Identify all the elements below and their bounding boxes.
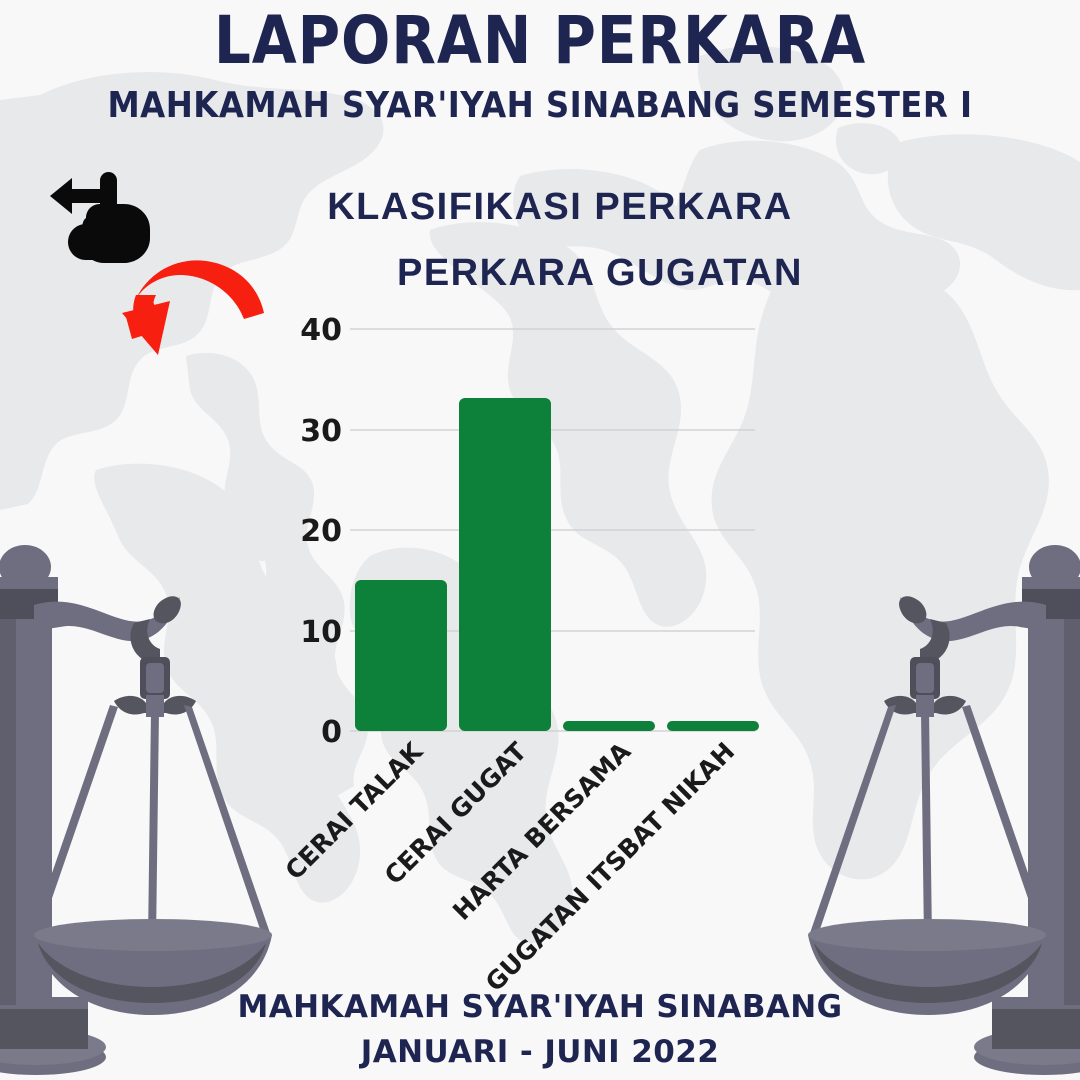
red-curved-arrow-icon <box>118 255 278 365</box>
page-title: LAPORAN PERKARA <box>65 8 1015 74</box>
poster-header: LAPORAN PERKARA MAHKAMAH SYAR'IYAH SINAB… <box>0 0 1080 124</box>
chart-gridlines <box>350 329 755 731</box>
infographic-poster: LAPORAN PERKARA MAHKAMAH SYAR'IYAH SINAB… <box>0 0 1080 1080</box>
x-tick-label: CERAI GUGAT <box>379 737 532 890</box>
x-tick-label: HARTA BERSAMA <box>447 736 637 926</box>
y-tick-label: 30 <box>300 414 342 449</box>
chart-y-axis: 40 30 20 10 0 <box>300 313 342 750</box>
y-tick-label: 40 <box>300 313 342 348</box>
poster-footer: MAHKAMAH SYAR'IYAH SINABANG JANUARI - JU… <box>0 992 1080 1068</box>
bar-gugatan-itsbat-nikah <box>667 721 759 731</box>
bar-harta-bersama <box>563 721 655 731</box>
y-tick-label: 10 <box>300 615 342 650</box>
bar-cerai-talak <box>355 580 447 731</box>
swipe-left-hand-icon <box>42 166 162 266</box>
section-heading-classification: KLASIFIKASI PERKARA <box>0 188 1080 226</box>
chart-x-axis: CERAI TALAK CERAI GUGAT HARTA BERSAMA GU… <box>280 736 741 998</box>
footer-institution: MAHKAMAH SYAR'IYAH SINABANG <box>0 992 1080 1023</box>
y-tick-label: 0 <box>321 715 342 750</box>
y-tick-label: 20 <box>300 514 342 549</box>
footer-period: JANUARI - JUNI 2022 <box>0 1037 1080 1068</box>
page-subtitle: MAHKAMAH SYAR'IYAH SINABANG SEMESTER I <box>54 88 1026 124</box>
x-tick-label: GUGATAN ITSBAT NIKAH <box>480 737 740 997</box>
bar-cerai-gugat <box>459 398 551 731</box>
x-tick-label: CERAI TALAK <box>280 736 430 886</box>
chart-bars <box>355 398 759 731</box>
